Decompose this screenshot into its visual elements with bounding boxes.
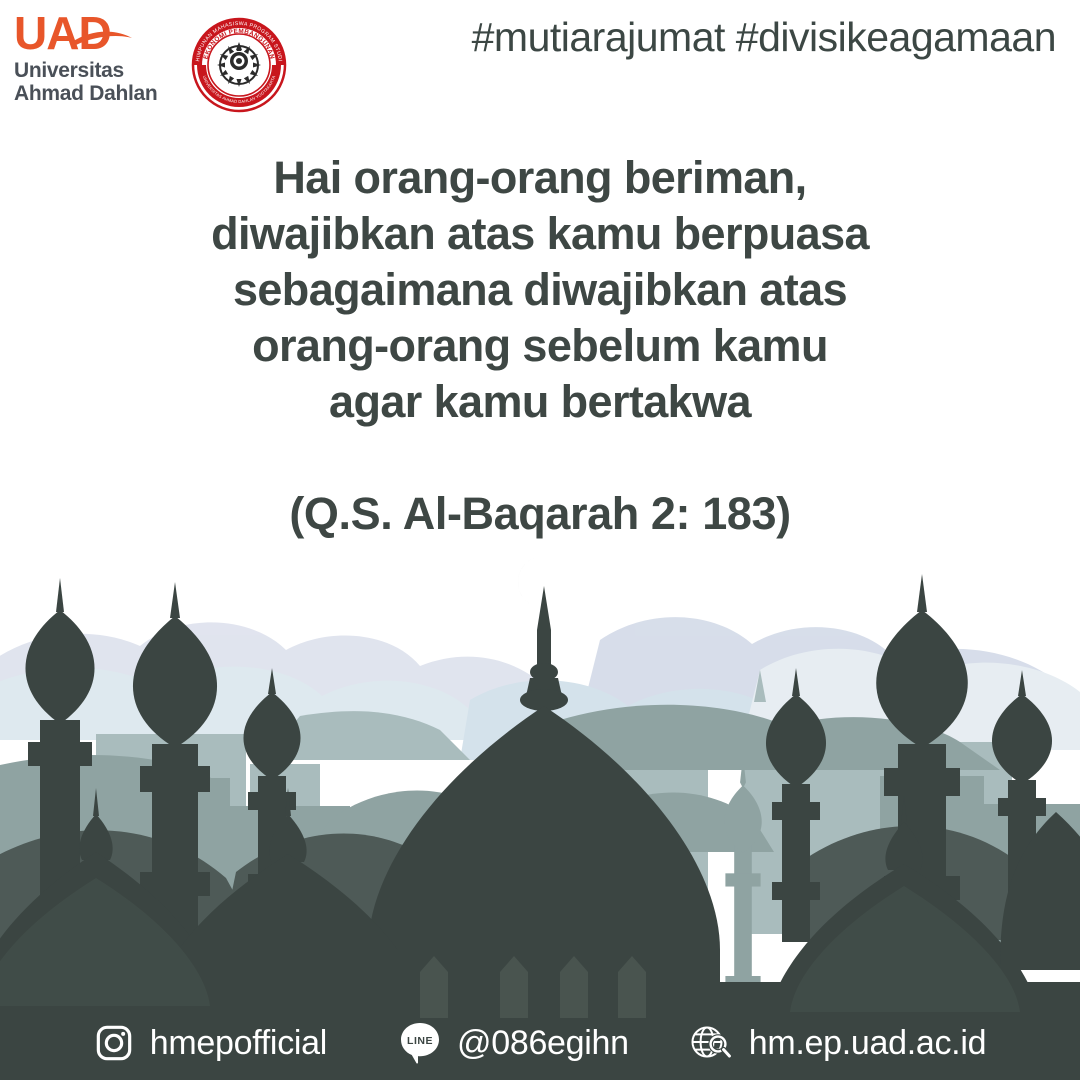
social-item-instagram[interactable]: hmepofficial bbox=[94, 1023, 327, 1063]
quote-citation: (Q.S. Al-Baqarah 2: 183) bbox=[0, 488, 1080, 540]
social-item-website[interactable]: hm.ep.uad.ac.id bbox=[689, 1022, 986, 1064]
poster-canvas: UAD Universitas Ahmad Dahlan bbox=[0, 0, 1080, 1080]
globe-search-icon bbox=[689, 1022, 733, 1064]
line-handle: @086egihn bbox=[457, 1024, 629, 1063]
brand-block: UAD Universitas Ahmad Dahlan bbox=[0, 0, 290, 121]
quote-line: orang-orang sebelum kamu bbox=[0, 318, 1080, 374]
uad-wordmark: UAD bbox=[14, 8, 182, 56]
hmps-seal: HIMPUNAN MAHASISWA PROGRAM STUDI EKONOMI… bbox=[188, 14, 290, 121]
quote-line: Hai orang-orang beriman, bbox=[0, 150, 1080, 206]
quote-line: diwajibkan atas kamu berpuasa bbox=[0, 206, 1080, 262]
instagram-icon bbox=[94, 1023, 134, 1063]
line-icon-label: LINE bbox=[407, 1035, 433, 1047]
uad-subtitle-line1: Universitas bbox=[14, 60, 182, 83]
quote-line: sebagaimana diwajibkan atas bbox=[0, 262, 1080, 318]
quote-line: agar kamu bertakwa bbox=[0, 374, 1080, 430]
social-item-line[interactable]: LINE @086egihn bbox=[399, 1021, 629, 1065]
website-url: hm.ep.uad.ac.id bbox=[749, 1024, 986, 1063]
uad-subtitle: Universitas Ahmad Dahlan bbox=[14, 60, 182, 105]
hashtag-line: #mutiarajumat #divisikeagamaan bbox=[472, 14, 1056, 61]
line-messenger-icon: LINE bbox=[399, 1021, 441, 1065]
mosque-skyline-illustration bbox=[0, 520, 1080, 1080]
footer-social-bar: hmepofficial LINE @086egihn bbox=[0, 1006, 1080, 1080]
uad-subtitle-line2: Ahmad Dahlan bbox=[14, 83, 182, 106]
uad-logo: UAD Universitas Ahmad Dahlan bbox=[14, 8, 182, 105]
quote-block: Hai orang-orang beriman, diwajibkan atas… bbox=[0, 150, 1080, 540]
instagram-handle: hmepofficial bbox=[150, 1024, 327, 1063]
